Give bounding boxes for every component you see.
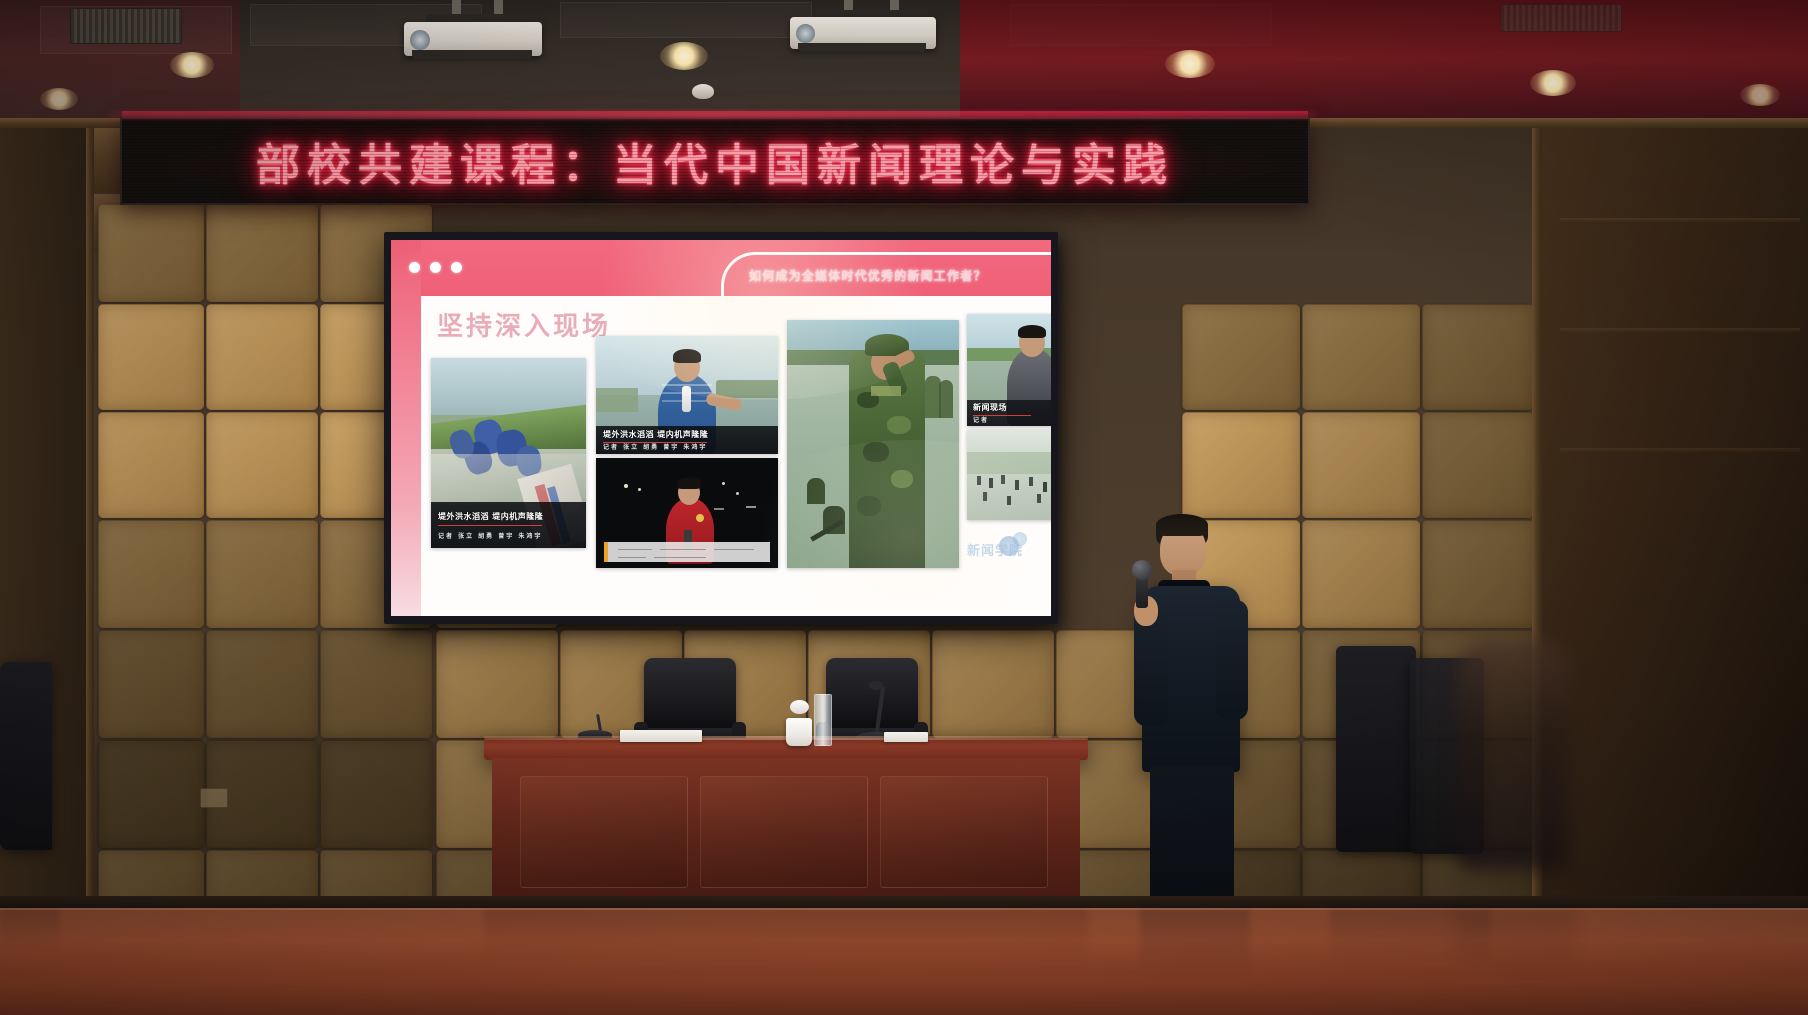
speaker-microphone-head <box>1132 560 1152 580</box>
photo-light-point <box>722 482 725 485</box>
wall-pad <box>1422 304 1534 410</box>
photo-foreground <box>431 454 586 504</box>
projector-base <box>798 43 926 52</box>
side-chair-far-left <box>0 662 52 850</box>
window-dot-icon <box>430 262 441 273</box>
wall-pad <box>98 630 204 738</box>
wall-pad <box>932 630 1054 738</box>
wood-line <box>1560 448 1800 452</box>
ceiling-light <box>40 88 78 110</box>
photo-reporter-hair <box>677 477 701 489</box>
photo-ticker-line <box>618 557 646 559</box>
wall-divider <box>86 128 94 908</box>
wall-outlet <box>200 788 228 808</box>
screenshot-root: 部校共建课程：当代中国新闻理论与实践 如何成为全媒体时代优秀的新闻工作者？ <box>0 0 1808 1015</box>
wall-pad <box>206 630 318 738</box>
slide-photo-sandbags: 堤外洪水滔滔 堤内机声隆隆 记者 张立 胡勇 曾宇 朱鸿宇 <box>431 358 586 548</box>
photo-caption-main: 堤外洪水滔滔 堤内机声隆隆 <box>438 511 543 522</box>
wall-pad <box>98 520 204 628</box>
slide: 如何成为全媒体时代优秀的新闻工作者？ 坚持深入现场 <box>391 240 1051 616</box>
slide-ribbon-title: 如何成为全媒体时代优秀的新闻工作者？ <box>749 267 987 284</box>
wood-line <box>1560 328 1800 332</box>
projector-base <box>412 50 532 59</box>
photo-bank <box>967 452 1051 474</box>
photo-ticker-line <box>654 557 706 559</box>
floor-reflection-table <box>484 908 1088 962</box>
floor <box>0 908 1808 1015</box>
photo-background <box>967 430 1051 520</box>
window-dots <box>409 262 462 273</box>
window-dot-icon <box>451 262 462 273</box>
desk-cup <box>786 718 812 746</box>
slide-watermark: 新闻学院 <box>967 540 1023 559</box>
wall-pad <box>206 412 318 518</box>
photo-caption-sub: 记者 <box>973 415 989 424</box>
photo-crowd-figure <box>1015 480 1019 490</box>
ceiling-panel <box>560 2 812 38</box>
photo-crowd-figure <box>983 492 987 501</box>
photo-crowd-figure <box>1029 477 1033 486</box>
photo-distant-bank <box>596 388 638 412</box>
led-banner-top-bloom <box>110 112 1316 118</box>
projector-lens <box>796 24 815 43</box>
photo-microphone <box>682 386 691 412</box>
side-chair-far-right <box>1336 646 1416 852</box>
wood-line <box>1560 218 1800 222</box>
wall-pad <box>98 412 204 518</box>
slide-photo-soldier <box>787 320 959 568</box>
slide-photo-reporter-right: 新闻现场 记者 <box>967 314 1051 426</box>
wall-pad <box>436 630 558 738</box>
ceiling-panel <box>1010 4 1272 46</box>
desk-cup-lid <box>790 700 809 714</box>
air-vent <box>1500 4 1622 32</box>
slide-photo-reporter-blue: 堤外洪水滔滔 堤内机声隆隆 记者 张立 胡勇 曾宇 朱鸿宇 <box>596 336 778 454</box>
photo-reporter-hair <box>1018 325 1046 338</box>
floor-reflection-speaker <box>1140 908 1250 978</box>
speaker-arm-right <box>1216 600 1248 720</box>
photo-crowd-figure <box>1001 475 1005 484</box>
photo-badge <box>696 514 704 522</box>
speaker <box>1128 514 1268 914</box>
photo-caption-underline <box>438 525 542 527</box>
photo-crowd-figure <box>1007 496 1011 505</box>
projection-screen-frame: 如何成为全媒体时代优秀的新闻工作者？ 坚持深入现场 <box>384 232 1058 624</box>
projector-lens <box>410 30 430 50</box>
wall-pad <box>98 304 204 410</box>
slide-ribbon: 如何成为全媒体时代优秀的新闻工作者？ <box>721 252 1051 296</box>
photo-crowd-figure <box>1043 482 1047 492</box>
photo-camo-blotch <box>857 496 881 516</box>
ceiling <box>0 0 1808 118</box>
slide-photo-crowd <box>967 430 1051 520</box>
photo-light-point <box>736 492 739 495</box>
window-dot-icon <box>409 262 420 273</box>
photo-light-streak <box>746 506 756 508</box>
table-front-panel <box>520 776 688 888</box>
ceiling-light <box>170 52 214 78</box>
photo-crowd-figure <box>1037 494 1041 503</box>
wall-right-column <box>1542 128 1808 908</box>
photo-caption-sub: 记者 张立 胡勇 曾宇 朱鸿宇 <box>603 442 707 451</box>
wall-pad <box>1422 412 1534 518</box>
slide-section-title: 坚持深入现场 <box>437 306 611 343</box>
photo-ticker-line <box>714 549 754 551</box>
wall-pad <box>320 630 432 738</box>
slide-photo-reporter-night <box>596 458 778 568</box>
wall-pad <box>206 304 318 410</box>
wall-pad <box>320 740 432 848</box>
wall-pad <box>98 740 204 848</box>
table-microphone-head <box>869 681 883 690</box>
slide-left-accent <box>391 240 421 616</box>
photo-caption-sub: 记者 张立 胡勇 曾宇 朱鸿宇 <box>438 531 542 540</box>
photo-camo-blotch <box>887 416 911 434</box>
projector-right <box>786 0 942 64</box>
speaker-hair-top <box>1156 514 1208 536</box>
projector-left <box>398 0 548 70</box>
floor-reflection-sidechairs <box>1330 908 1490 964</box>
photo-crowd-figure <box>989 478 993 488</box>
ceiling-light <box>660 42 708 70</box>
wall-pad <box>206 204 318 302</box>
photo-reporter-hair <box>673 349 701 363</box>
photo-light-point <box>624 484 628 488</box>
table-front-panel <box>880 776 1048 888</box>
air-vent <box>70 8 182 44</box>
led-scanlines <box>122 119 1308 203</box>
floor-reflection-chair <box>0 908 60 954</box>
photo-soldier-patch <box>871 386 901 396</box>
desk-papers-right <box>884 732 928 742</box>
photo-news-ticker <box>604 542 770 562</box>
photo-caption-main: 堤外洪水滔滔 堤内机声隆隆 <box>603 429 708 440</box>
background-figure-blurred <box>1458 640 1568 870</box>
photo-camo-blotch <box>863 442 889 462</box>
photo-light-point <box>638 488 641 491</box>
photo-wading-figure <box>807 478 825 504</box>
ceiling-light <box>1740 84 1780 106</box>
photo-ticker-line <box>618 549 652 551</box>
photo-crowd-figure <box>977 476 981 485</box>
ceiling-light <box>1530 70 1576 96</box>
photo-light-streak <box>714 508 724 510</box>
photo-camo-blotch <box>891 470 913 488</box>
photo-ticker-accent <box>604 542 608 562</box>
wall-pad <box>1182 412 1300 518</box>
chair-backrest <box>644 658 736 730</box>
wall-pad <box>1422 520 1534 628</box>
photo-background-figure <box>939 380 953 418</box>
wall-pad <box>1302 304 1420 410</box>
photo-ticker-line <box>660 549 706 551</box>
chair-backrest <box>826 658 918 730</box>
speaker-legs <box>1150 766 1234 914</box>
table-front-panel <box>700 776 868 888</box>
wall-pad <box>1182 304 1300 410</box>
wall-pad <box>206 520 318 628</box>
wall-pad <box>1302 520 1420 628</box>
led-banner: 部校共建课程：当代中国新闻理论与实践 <box>120 117 1310 205</box>
ceiling-light <box>1165 50 1215 78</box>
wall-pad <box>1302 412 1420 518</box>
wall-pad <box>98 204 204 302</box>
desk-glass <box>814 694 832 746</box>
photo-caption-main: 新闻现场 <box>973 402 1007 413</box>
smoke-detector <box>692 84 714 99</box>
floor-edge-line <box>0 908 1808 910</box>
desk-papers-left <box>620 730 702 742</box>
